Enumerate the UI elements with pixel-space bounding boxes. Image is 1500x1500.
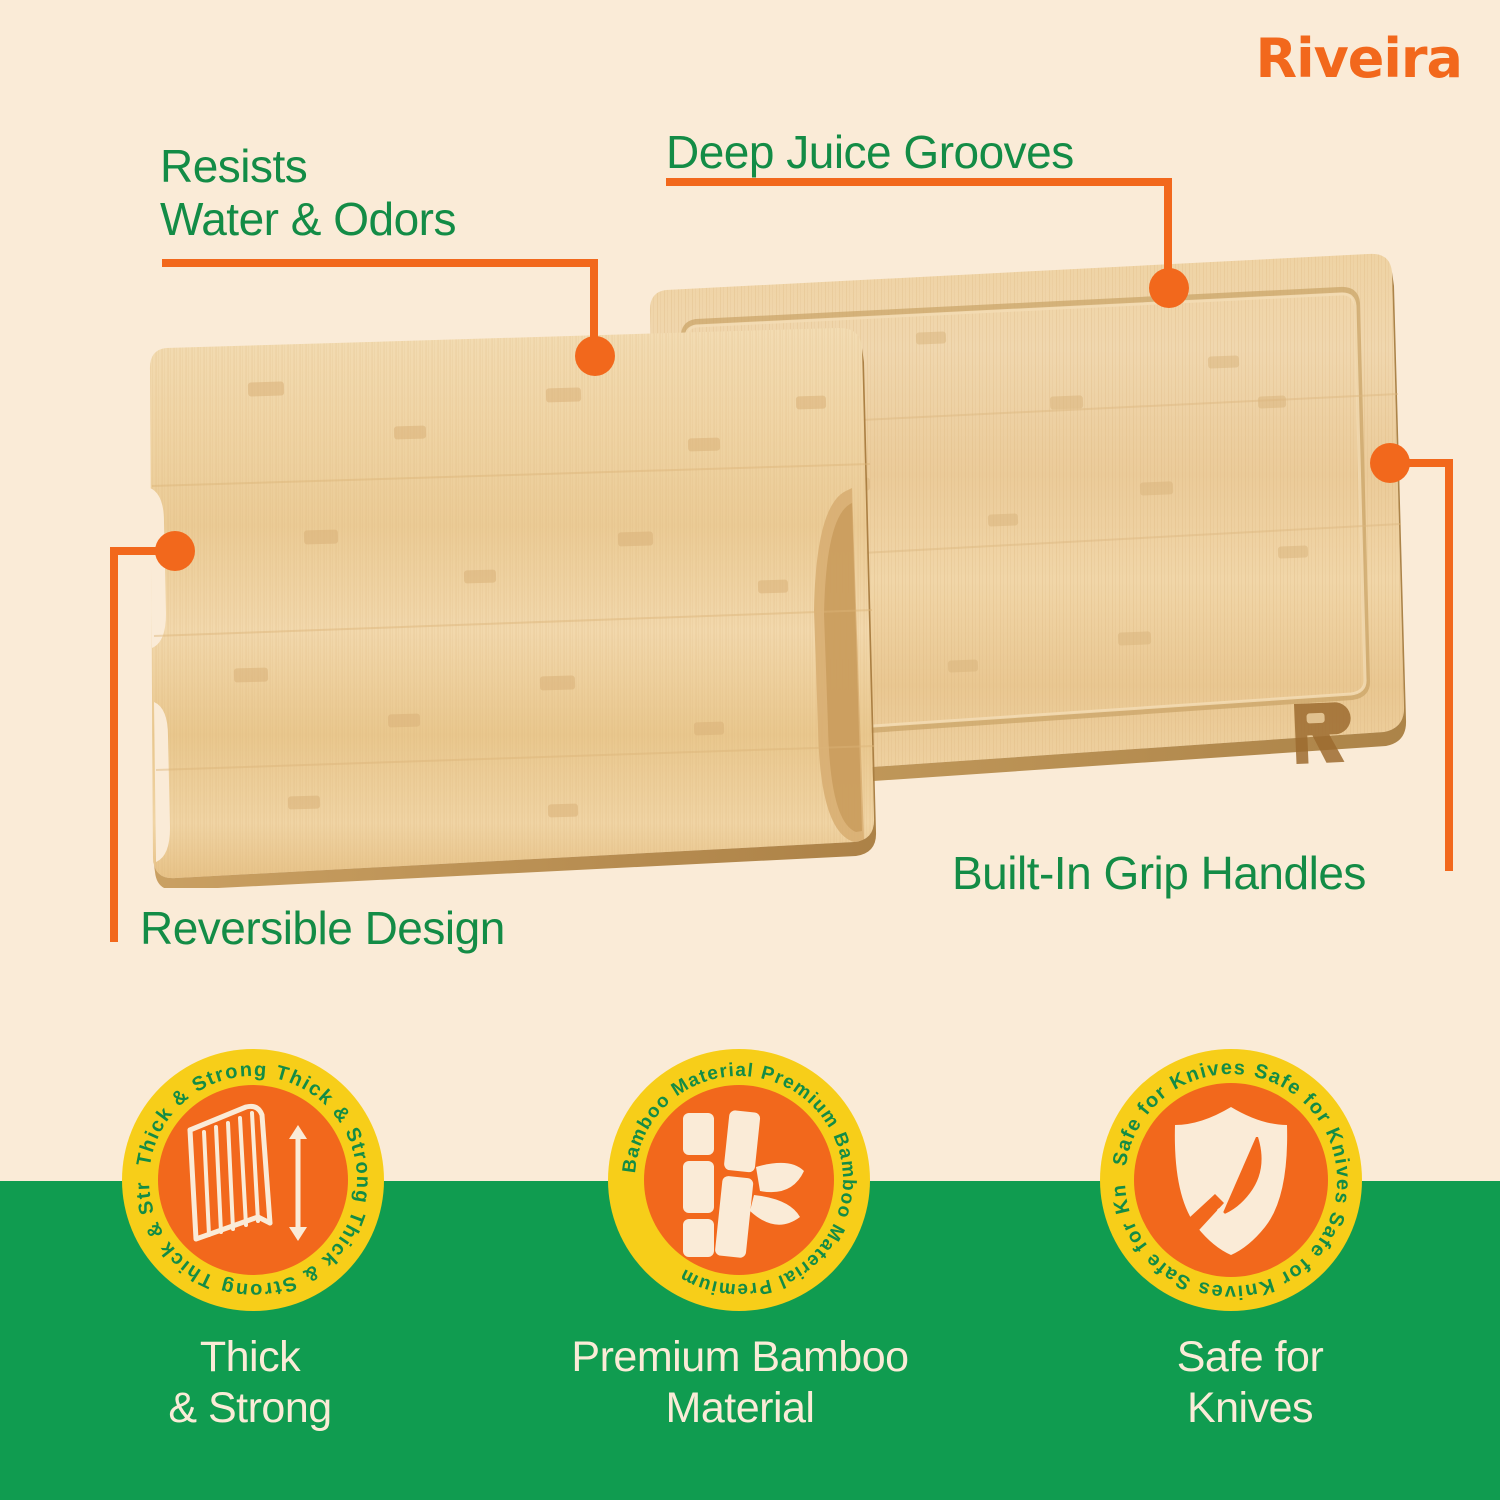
badge-premium-bamboo-material: Bamboo Material Premium Bamboo Material … <box>604 1045 874 1315</box>
badge-safe-for-knives: Safe for Knives Safe for Knives Safe for… <box>1096 1045 1366 1315</box>
badge-thick-and-strong: Thick & Strong Thick & Strong Thick & St… <box>118 1045 388 1315</box>
badge-caption-safe-for-knives: Safe for Knives <box>1040 1332 1460 1433</box>
callout-line-reversible-vertical <box>110 547 118 942</box>
brand-logo: Riveira <box>1256 32 1463 86</box>
callout-line-resists-horizontal <box>162 259 598 267</box>
callout-label-resists-water-odors: Resists Water & Odors <box>160 140 456 246</box>
callout-line-grooves-horizontal <box>666 178 1172 186</box>
callout-line-handles-vertical <box>1445 459 1453 871</box>
callout-dot-icon-grooves <box>1149 268 1189 308</box>
badge-caption-thick-and-strong: Thick & Strong <box>60 1332 440 1433</box>
callout-line-grooves-vertical <box>1164 178 1172 278</box>
callout-label-deep-juice-grooves: Deep Juice Grooves <box>666 126 1074 179</box>
callout-label-reversible-design: Reversible Design <box>140 902 505 955</box>
callout-line-reversible-horizontal <box>110 547 170 555</box>
badge-caption-premium-bamboo-material: Premium Bamboo Material <box>500 1332 980 1433</box>
bamboo-cutting-board-front <box>148 318 893 888</box>
infographic-canvas: Riveira <box>0 0 1500 1500</box>
callout-label-built-in-grip-handles: Built-In Grip Handles <box>952 847 1366 900</box>
callout-dot-icon-resists <box>575 336 615 376</box>
